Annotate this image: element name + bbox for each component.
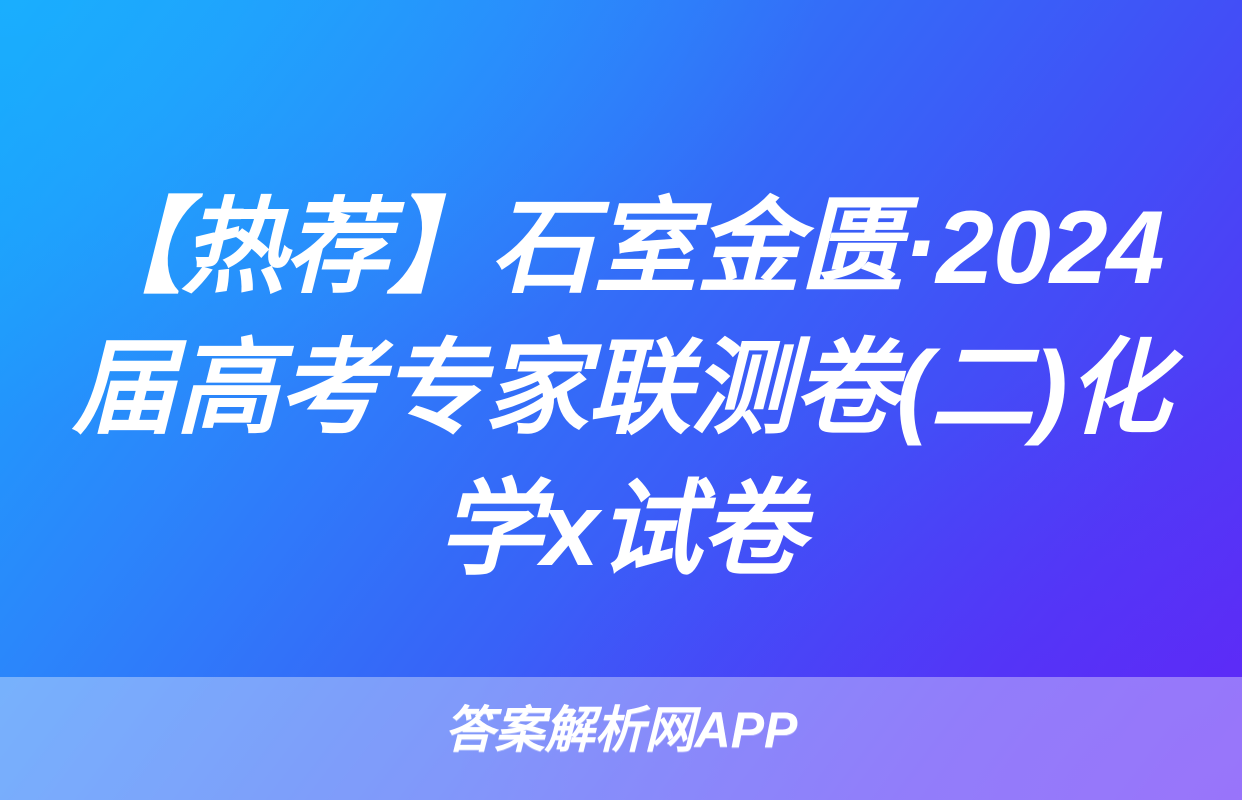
page-title-line-1: 【热荐】石室金匮·2024: [0, 178, 1242, 319]
app-watermark-label: 答案解析网APP: [445, 703, 798, 757]
page-title: 【热荐】石室金匮·2024 届高考专家联测卷(二)化 学x试卷: [0, 178, 1242, 601]
footer-watermark-band: 答案解析网APP: [0, 677, 1242, 800]
promo-poster: 【热荐】石室金匮·2024 届高考专家联测卷(二)化 学x试卷 答案解析网APP: [0, 0, 1242, 800]
page-title-line-3: 学x试卷: [0, 460, 1242, 601]
page-title-line-2: 届高考专家联测卷(二)化: [0, 319, 1242, 460]
